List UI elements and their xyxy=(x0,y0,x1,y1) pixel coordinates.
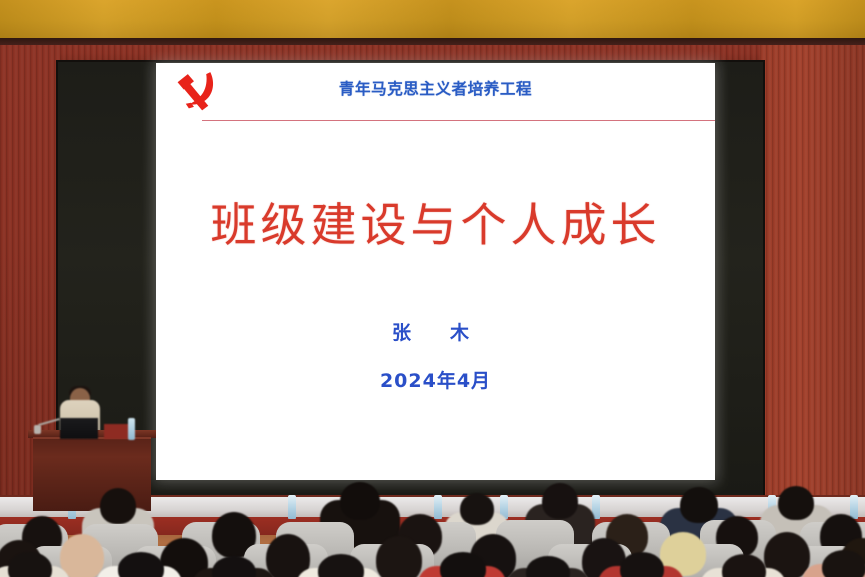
slide-author-name: 张 木 xyxy=(156,318,715,345)
water-bottle xyxy=(434,495,442,519)
podium-red-object xyxy=(104,424,130,439)
microphone-base xyxy=(34,425,41,434)
water-bottle xyxy=(500,495,508,519)
laptop-icon xyxy=(60,418,98,439)
slide-main-title: 班级建设与个人成长 xyxy=(156,189,715,255)
slide-date: 2024年4月 xyxy=(156,366,715,393)
water-bottle xyxy=(288,495,296,519)
upper-wall-gold-band xyxy=(0,0,865,38)
front-table-skirt xyxy=(0,517,865,535)
presentation-slide: 青年马克思主义者培养工程 班级建设与个人成长 张 木 2024年4月 xyxy=(156,63,715,480)
water-bottle-podium xyxy=(128,418,135,440)
stage-floor xyxy=(0,528,865,577)
wall-trim-line xyxy=(0,38,865,45)
water-bottle xyxy=(768,495,776,519)
speaker-podium xyxy=(33,437,151,511)
slide-header-divider xyxy=(202,120,715,121)
slide-header: 青年马克思主义者培养工程 xyxy=(156,63,715,125)
water-bottle xyxy=(592,495,600,519)
auditorium-photo: 青年马克思主义者培养工程 班级建设与个人成长 张 木 2024年4月 xyxy=(0,0,865,577)
water-bottle xyxy=(688,495,696,519)
slide-header-title: 青年马克思主义者培养工程 xyxy=(156,77,715,99)
wall-red-right xyxy=(760,45,865,500)
water-bottle xyxy=(850,495,858,519)
